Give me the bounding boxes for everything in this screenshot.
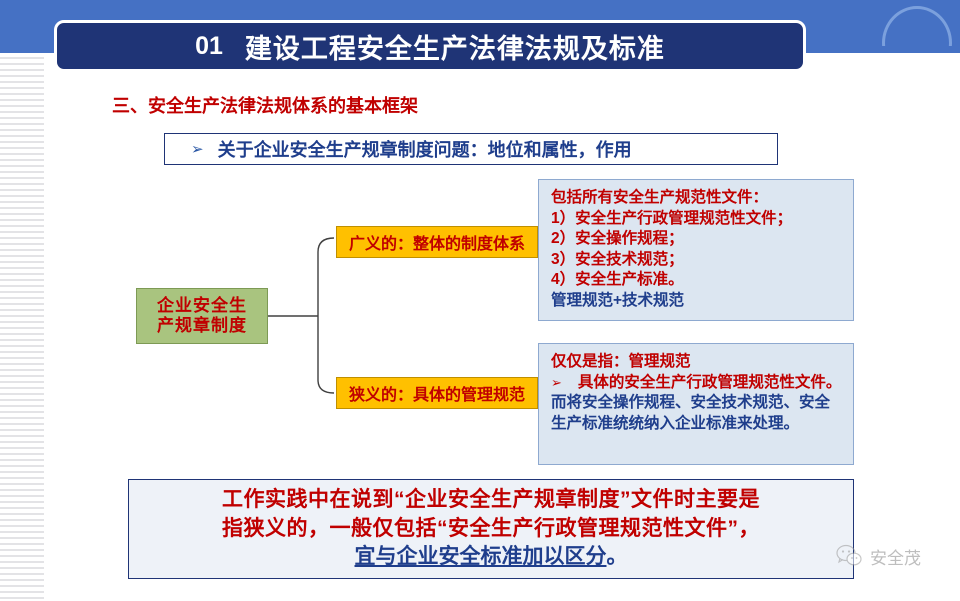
panel-narrow-line-1: 仅仅是指：管理规范	[551, 352, 843, 373]
panel-broad-line-0: 包括所有安全生产规范性文件：	[551, 188, 843, 209]
diagram-branch-broad: 广义的：整体的制度体系	[336, 226, 538, 258]
panel-broad-line-1: 1）安全生产行政管理规范性文件；	[551, 209, 843, 230]
panel-narrow-line-3: 而将安全操作规程、安全技术规范、安全	[551, 393, 843, 414]
panel-broad-line-2: 2）安全操作规程；	[551, 229, 843, 250]
summary-line-1: 工作实践中在说到“企业安全生产规章制度”文件时主要是	[222, 486, 760, 515]
panel-narrow-definition: 仅仅是指：管理规范 ➢ 具体的安全生产行政管理规范性文件。 而将安全操作规程、安…	[538, 343, 854, 465]
panel-broad-line-3: 3）安全技术规范；	[551, 250, 843, 271]
diagram-root-node: 企业安全生 产规章制度	[136, 288, 268, 344]
wechat-logo-icon	[836, 543, 862, 569]
panel-narrow-bullet-row: ➢ 具体的安全生产行政管理规范性文件。	[551, 373, 843, 394]
branch-narrow-label: 狭义的：具体的管理规范	[349, 381, 525, 405]
summary-line-2: 指狭义的，一般仅包括“安全生产行政管理规范性文件”，	[222, 515, 760, 544]
branch-broad-label: 广义的：整体的制度体系	[349, 230, 525, 254]
watermark: 安全茂	[836, 543, 921, 569]
panel-broad-line-5: 管理规范+技术规范	[551, 291, 843, 312]
watermark-text: 安全茂	[870, 544, 921, 569]
slide-canvas: 01 建设工程安全生产法律法规及标准 三、安全生产法律法规体系的基本框架 ➢ 关…	[0, 0, 960, 601]
summary-line-3-tail: 。	[607, 545, 628, 568]
panel-narrow-line-4: 生产标准统统纳入企业标准来处理。	[551, 414, 843, 435]
root-node-line1: 企业安全生	[157, 296, 247, 316]
panel-narrow-line-2: 具体的安全生产行政管理规范性文件。	[578, 373, 842, 394]
summary-line-3-underlined: 宜与企业安全标准加以区分	[355, 545, 607, 568]
root-node-line2: 产规章制度	[157, 316, 247, 336]
panel-broad-definition: 包括所有安全生产规范性文件： 1）安全生产行政管理规范性文件； 2）安全操作规程…	[538, 179, 854, 321]
chevron-right-icon: ➢	[551, 374, 562, 391]
panel-broad-line-4: 4）安全生产标准。	[551, 270, 843, 291]
summary-box: 工作实践中在说到“企业安全生产规章制度”文件时主要是 指狭义的，一般仅包括“安全…	[128, 479, 854, 579]
diagram-branch-narrow: 狭义的：具体的管理规范	[336, 377, 538, 409]
summary-line-3: 宜与企业安全标准加以区分。	[355, 543, 628, 572]
